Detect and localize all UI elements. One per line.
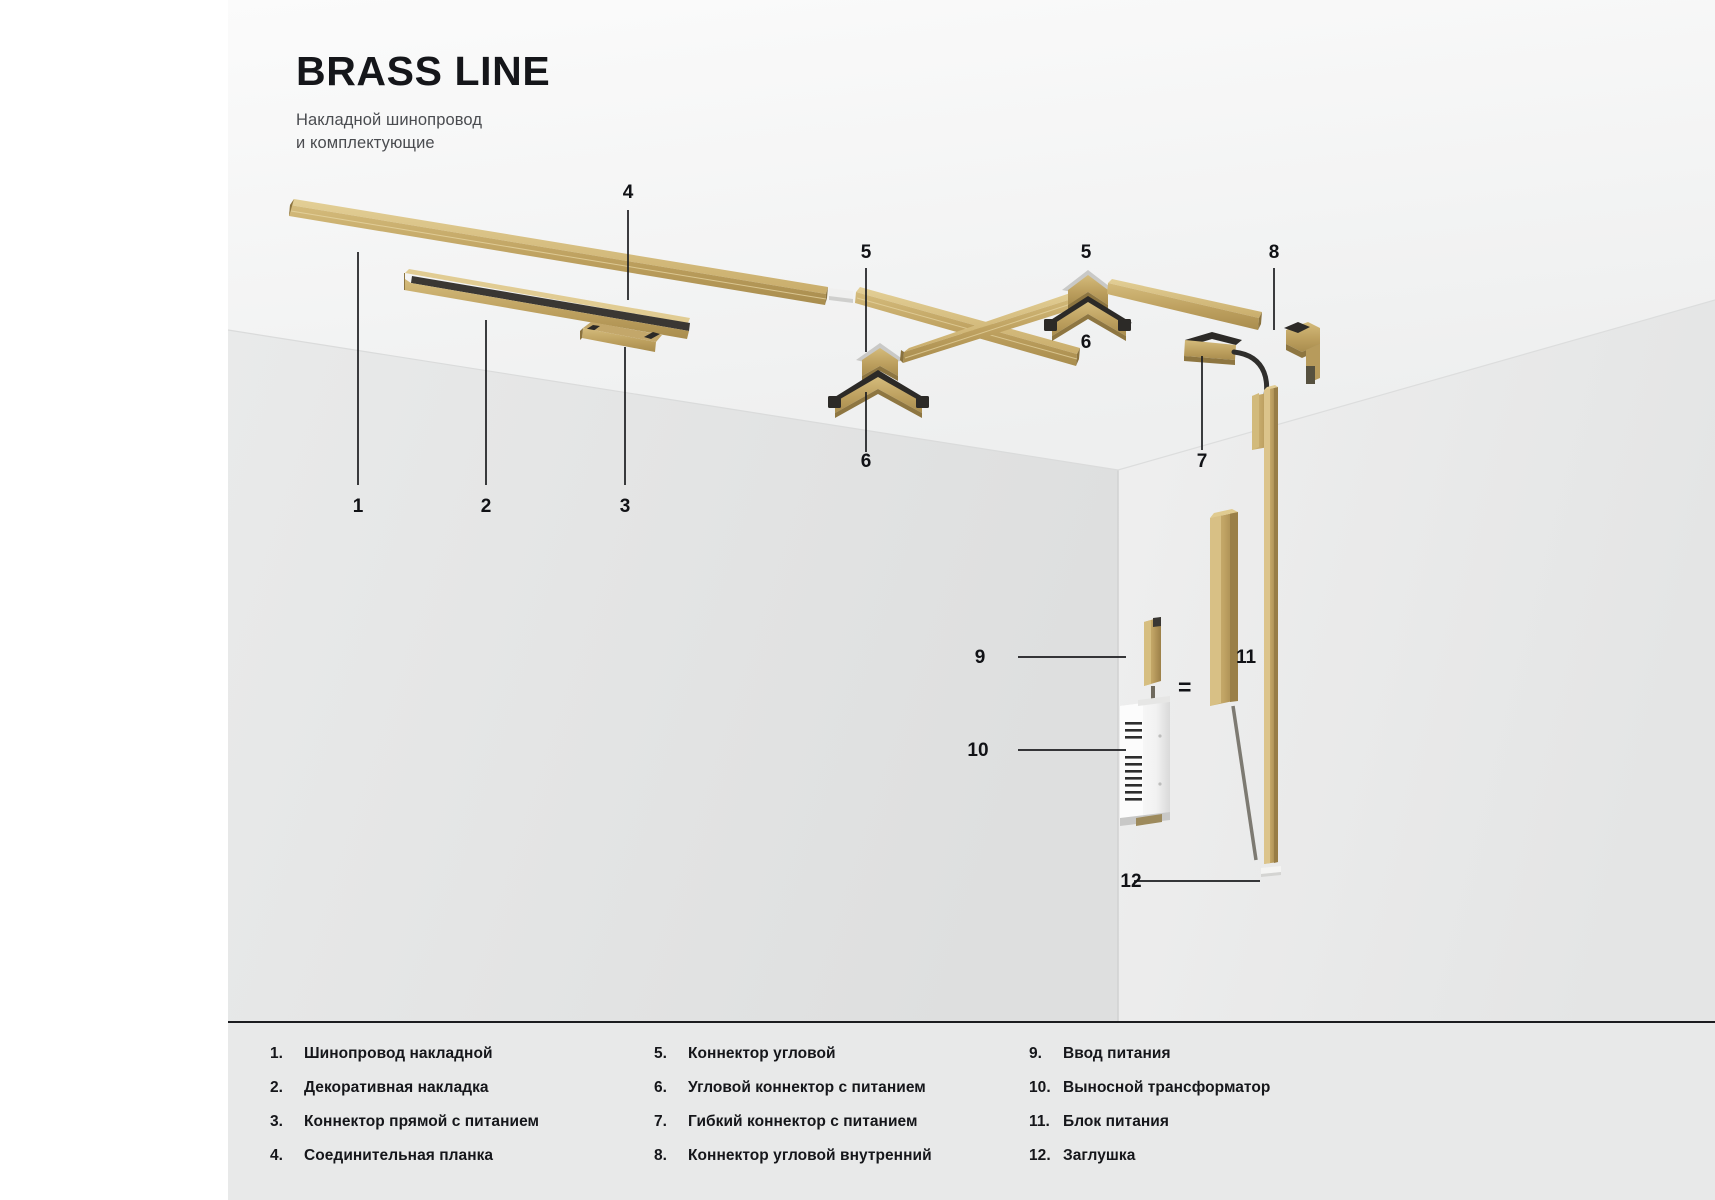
legend-number: 11. [1029, 1113, 1063, 1131]
equals-icon: = [1178, 676, 1191, 699]
callout-4: 4 [623, 183, 634, 202]
legend-label: Угловой коннектор с питанием [688, 1079, 926, 1097]
legend-label: Коннектор прямой с питанием [304, 1113, 539, 1131]
legend-number: 7. [654, 1113, 688, 1131]
callout-10: 10 [967, 741, 988, 760]
legend-label: Декоративная накладка [304, 1079, 489, 1097]
callout-8: 8 [1269, 243, 1280, 262]
legend-item-4: 4. Соединительная планка [270, 1147, 654, 1181]
legend-panel: 1. Шинопровод накладной 5. Коннектор угл… [228, 1021, 1715, 1200]
legend-item-11: 11. Блок питания [1029, 1113, 1670, 1147]
legend-item-10: 10. Выносной трансформатор [1029, 1079, 1670, 1113]
callout-3: 3 [620, 497, 631, 516]
legend-item-6: 6. Угловой коннектор с питанием [654, 1079, 1029, 1113]
legend-number: 4. [270, 1147, 304, 1165]
legend-item-1: 1. Шинопровод накладной [270, 1045, 654, 1079]
legend-number: 3. [270, 1113, 304, 1131]
legend-number: 6. [654, 1079, 688, 1097]
callout-6b: 6 [1081, 333, 1092, 352]
legend-number: 10. [1029, 1079, 1063, 1097]
legend-label: Заглушка [1063, 1147, 1135, 1165]
callout-5b: 5 [1081, 243, 1092, 262]
legend-item-9: 9. Ввод питания [1029, 1045, 1670, 1079]
remote-transformer-10 [1120, 696, 1170, 826]
callout-12: 12 [1120, 872, 1141, 891]
scene-render [228, 0, 1715, 1200]
legend-number: 1. [270, 1045, 304, 1063]
callout-11: 11 [1236, 648, 1256, 667]
legend-label: Гибкий коннектор с питанием [688, 1113, 918, 1131]
legend-item-12: 12. Заглушка [1029, 1147, 1670, 1181]
legend-label: Коннектор угловой [688, 1045, 836, 1063]
callout-6a: 6 [861, 452, 872, 471]
callout-2: 2 [481, 497, 492, 516]
vent-slots-upper [1125, 722, 1142, 739]
legend-label: Коннектор угловой внутренний [688, 1147, 932, 1165]
legend-item-3: 3. Коннектор прямой с питанием [270, 1113, 654, 1147]
legend-label: Ввод питания [1063, 1045, 1171, 1063]
callout-9: 9 [975, 648, 986, 667]
legend-label: Блок питания [1063, 1113, 1169, 1131]
legend-number: 9. [1029, 1045, 1063, 1063]
legend-item-8: 8. Коннектор угловой внутренний [654, 1147, 1029, 1181]
product-illustration: BRASS LINE Накладной шинопровод и компле… [228, 0, 1715, 1200]
vertical-profile-12 [1261, 385, 1281, 877]
product-overview-page: BRASS LINE Накладной шинопровод и компле… [0, 0, 1715, 1200]
legend-grid: 1. Шинопровод накладной 5. Коннектор угл… [270, 1045, 1670, 1181]
legend-number: 2. [270, 1079, 304, 1097]
legend-item-2: 2. Декоративная накладка [270, 1079, 654, 1113]
legend-number: 12. [1029, 1147, 1063, 1165]
legend-label: Соединительная планка [304, 1147, 493, 1165]
legend-number: 8. [654, 1147, 688, 1165]
legend-label: Шинопровод накладной [304, 1045, 493, 1063]
callout-7: 7 [1197, 452, 1208, 471]
legend-item-7: 7. Гибкий коннектор с питанием [654, 1113, 1029, 1147]
legend-item-5: 5. Коннектор угловой [654, 1045, 1029, 1079]
legend-label: Выносной трансформатор [1063, 1079, 1270, 1097]
callout-1: 1 [353, 497, 364, 516]
legend-number: 5. [654, 1045, 688, 1063]
callout-5a: 5 [861, 243, 872, 262]
